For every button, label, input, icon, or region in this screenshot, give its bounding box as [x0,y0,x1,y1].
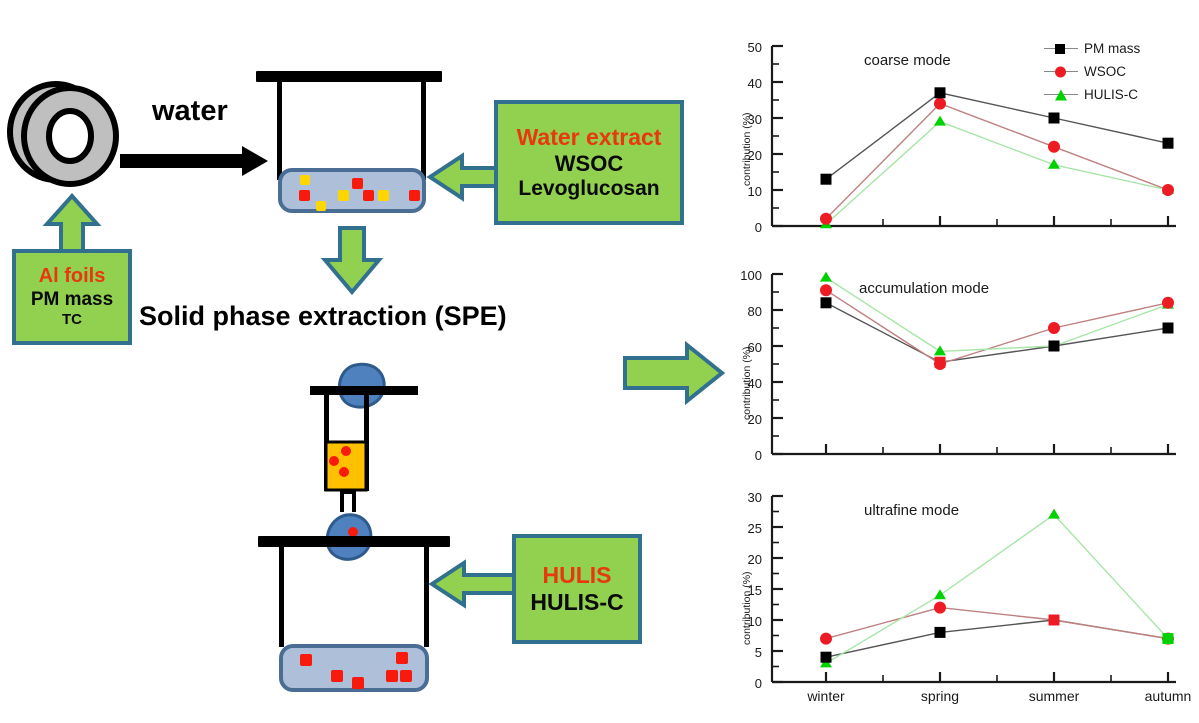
chart-panel-coarse: coarse mode contribution (%) 50 40 30 20… [724,0,1199,245]
ytick-label: 30 [730,490,762,505]
box-al-foils: Al foils PM mass TC [12,249,132,345]
beaker-top-wall-right [421,82,426,180]
legend-line-wsoc [1044,71,1078,72]
box-hulis: HULIS HULIS-C [512,534,642,644]
box-hulis-title: HULIS [543,562,612,589]
ytick-label: 50 [730,40,762,55]
legend-line-hulis-c [1044,94,1078,95]
ytick-label: 20 [724,412,762,427]
legend-item-pm-mass[interactable]: PM mass [1044,41,1140,56]
green-down-arrow-icon [318,225,386,295]
box-water-extract-line2: Levoglucosan [518,177,659,202]
ytick-label: 0 [730,220,762,235]
ytick-label: 40 [724,376,762,391]
particle-levoglucosan [316,201,326,211]
water-label: water [152,95,228,128]
ytick-label: 15 [730,583,762,598]
black-right-arrow-icon [120,146,270,180]
square-marker-icon [1055,44,1065,54]
chart-plot-coarse [764,0,1194,245]
beaker-bottom-wall-left [279,547,284,647]
box-water-extract-title: Water extract [517,124,662,151]
spe-title: Solid phase extraction (SPE) [139,301,507,332]
ytick-label: 0 [724,448,762,463]
xtick-label-winter: winter [786,688,866,704]
chart-panel-accumulation: accumulation mode contribution (%) 100 8… [724,245,1199,485]
ytick-label: 10 [730,614,762,629]
particle-hulis [352,677,364,689]
particle-levoglucosan [338,190,349,201]
particle-levoglucosan [300,175,310,185]
particle-wsoc [299,190,310,201]
chart-panel-ultrafine: ultrafine mode contribution (%) 30 25 20… [724,485,1199,723]
ytick-label: 20 [730,552,762,567]
box-al-foils-title: Al foils [39,265,106,289]
xtick-label-summer: summer [1014,688,1094,704]
particle-wsoc [363,190,374,201]
circle-marker-icon [1055,67,1066,78]
ytick-label: 40 [730,76,762,91]
box-water-extract: Water extract WSOC Levoglucosan [494,100,684,225]
beaker-top-rim [256,71,442,82]
particle-hulis [396,652,408,664]
xtick-label-spring: spring [900,688,980,704]
beaker-bottom-rim [258,536,450,547]
ytick-label: 60 [724,340,762,355]
ytick-label: 20 [730,148,762,163]
legend-line-pm-mass [1044,48,1078,49]
ytick-label: 30 [730,112,762,127]
beaker-top-wall-left [277,82,282,180]
beaker-bottom-wall-right [424,547,429,647]
particle-levoglucosan [378,190,389,201]
particle-wsoc [409,190,420,201]
green-right-arrow-results-icon [621,341,725,405]
particle-hulis [386,670,398,682]
legend-label: PM mass [1084,41,1140,56]
box-water-extract-line1: WSOC [555,151,623,177]
particle-hulis [400,670,412,682]
box-al-foils-line2: TC [62,311,82,329]
legend-item-wsoc[interactable]: WSOC [1044,64,1126,79]
particle-wsoc [352,178,363,189]
ytick-label: 80 [724,304,762,319]
triangle-marker-icon [1055,90,1067,101]
particle-hulis [331,670,343,682]
legend-item-hulis-c[interactable]: HULIS-C [1044,87,1138,102]
ytick-label: 100 [724,268,762,283]
process-diagram: Al foils PM mass TC water Water extract … [0,0,740,723]
xtick-label-autumn: autumn [1128,688,1199,704]
legend-label: WSOC [1084,64,1126,79]
ytick-label: 25 [730,521,762,536]
ytick-label: 10 [730,184,762,199]
charts-column: coarse mode contribution (%) 50 40 30 20… [724,0,1199,723]
box-al-foils-line1: PM mass [31,289,113,311]
box-hulis-line1: HULIS-C [530,589,623,616]
ytick-label: 5 [730,645,762,660]
legend-label: HULIS-C [1084,87,1138,102]
spe-cartridge-icon [290,362,470,522]
particle-hulis [300,654,312,666]
ytick-label: 0 [730,676,762,691]
chart-plot-accumulation [764,245,1194,485]
green-up-arrow-icon [41,193,103,255]
